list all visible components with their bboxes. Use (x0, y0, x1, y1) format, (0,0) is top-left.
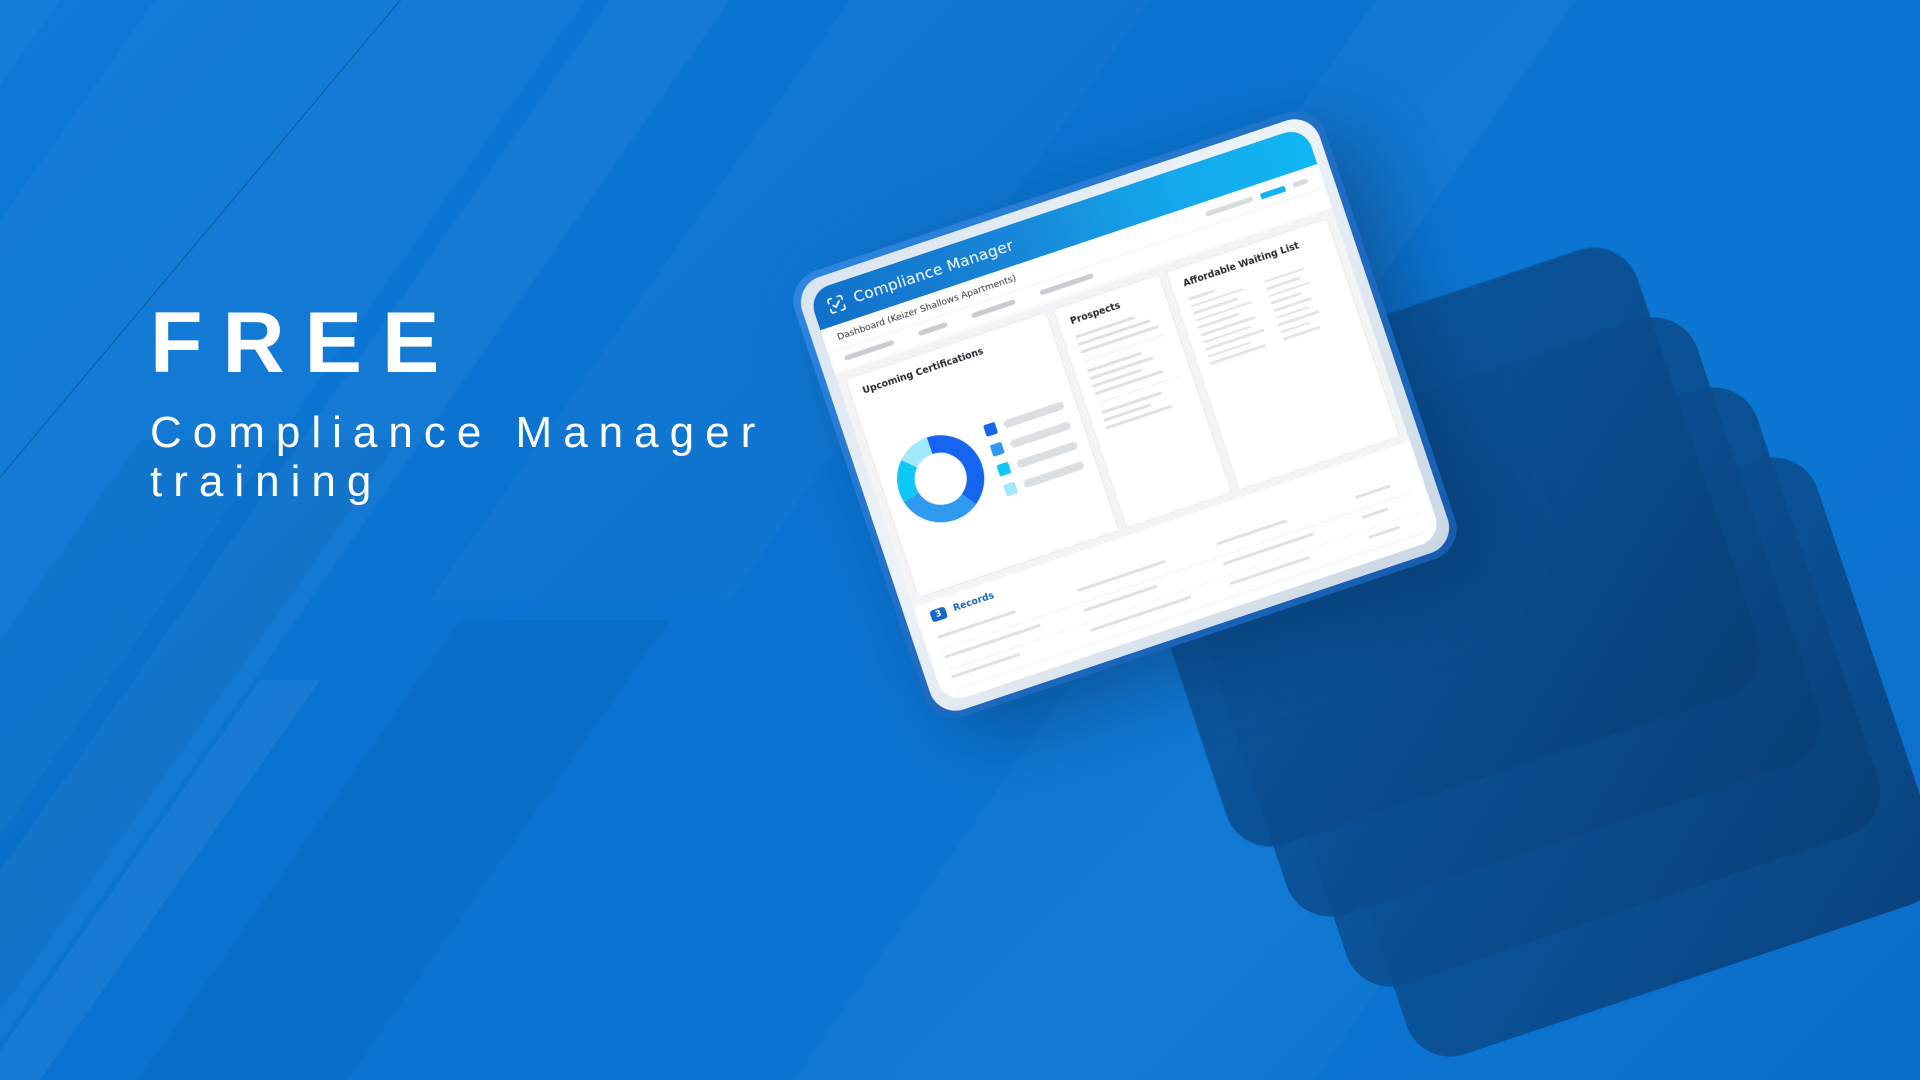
legend-swatch (983, 422, 998, 437)
legend-swatch (990, 441, 1005, 456)
toolbar-placeholder[interactable] (1292, 178, 1309, 188)
donut-legend (983, 399, 1086, 496)
bg-streak (0, 680, 320, 1080)
device-stack: Compliance Manager Dashboard (Keizer Sha… (760, 80, 1920, 1080)
legend-swatch (996, 461, 1011, 476)
headline-subtitle-line-2: training (150, 457, 766, 506)
toolbar-active-pill[interactable] (1260, 185, 1287, 199)
waiting-list-column-right (1261, 252, 1349, 345)
nav-item-placeholder[interactable] (918, 322, 948, 336)
records-count-badge: 3 (929, 606, 948, 623)
donut-chart (883, 421, 999, 537)
bg-streak (0, 0, 760, 1080)
legend-swatch (1003, 481, 1018, 496)
waiting-list-column-left (1188, 277, 1276, 370)
bg-streak (0, 0, 270, 1080)
checkbox-check-icon (824, 292, 848, 316)
hero-headline: FREE Compliance Manager training (150, 300, 766, 507)
prospects-list (1075, 308, 1188, 429)
list-item (1261, 273, 1262, 275)
bg-streak (0, 440, 400, 1080)
bg-streak (0, 620, 670, 1080)
bg-streak (0, 0, 120, 1080)
headline-subtitle: Compliance Manager training (150, 408, 766, 507)
headline-free-word: FREE (150, 300, 766, 386)
headline-subtitle-line-1: Compliance Manager (150, 408, 766, 457)
